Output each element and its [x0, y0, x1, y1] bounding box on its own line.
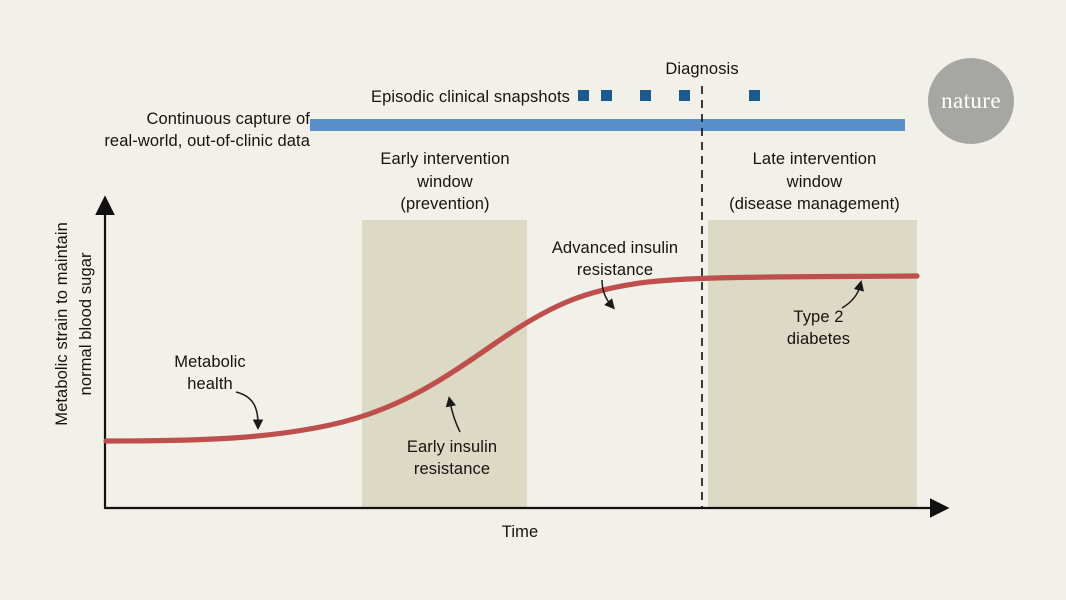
figure-canvas: Continuous capture of real-world, out-of…	[0, 0, 1066, 600]
y-axis-label: Metabolic strain to maintain normal bloo…	[51, 189, 99, 459]
snapshot-marker	[601, 90, 612, 101]
snapshot-marker	[679, 90, 690, 101]
advanced-insulin-resistance-annotation: Advanced insulin resistance	[520, 238, 710, 282]
x-axis-label: Time	[440, 523, 600, 542]
early-intervention-window-label: Early intervention window (prevention)	[335, 148, 555, 216]
snapshot-marker	[578, 90, 589, 101]
snapshot-marker	[640, 90, 651, 101]
continuous-capture-label: Continuous capture of real-world, out-of…	[36, 108, 310, 153]
advanced-insulin-resistance-arrow	[602, 280, 611, 305]
late-intervention-window-band	[708, 220, 917, 508]
type-2-diabetes-annotation: Type 2 diabetes	[756, 307, 881, 351]
snapshot-marker	[749, 90, 760, 101]
metabolic-health-arrow	[236, 392, 258, 424]
nature-logo: nature	[928, 58, 1014, 144]
episodic-snapshot-markers	[578, 90, 760, 101]
episodic-snapshots-label: Episodic clinical snapshots	[320, 88, 570, 107]
early-insulin-resistance-annotation: Early insulin resistance	[372, 437, 532, 481]
metabolic-health-annotation: Metabolic health	[140, 352, 280, 396]
nature-logo-text: nature	[941, 88, 1001, 114]
continuous-capture-bar	[310, 119, 905, 131]
late-intervention-window-label: Late intervention window (disease manage…	[702, 148, 927, 216]
diagnosis-label: Diagnosis	[617, 60, 787, 79]
